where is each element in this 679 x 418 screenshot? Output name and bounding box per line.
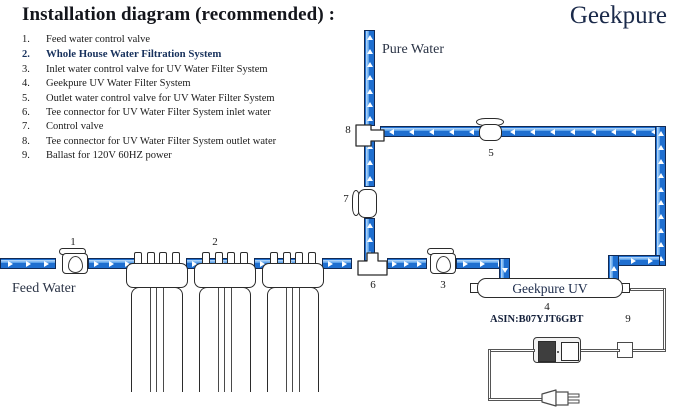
legend-label: Inlet water control valve for UV Water F…: [46, 64, 268, 75]
wire-to-connector: [630, 349, 666, 352]
legend-number: 2.: [22, 49, 46, 60]
asin-label: ASIN:B07YJT6GBT: [490, 314, 583, 325]
flow-arrows-up: [609, 256, 618, 280]
flow-arrows-right: [388, 259, 426, 268]
flow-arrows-left: [381, 127, 664, 136]
power-plug-icon: [540, 388, 582, 415]
filter-collar: [194, 263, 256, 288]
legend-item-7: 7. Control valve: [22, 121, 342, 132]
pipe-feed-inlet: [0, 258, 56, 269]
callout-8: 8: [340, 124, 356, 136]
ballast-light-panel: [561, 342, 579, 361]
brand-logo: Geekpure: [570, 2, 667, 30]
pipe-tee6-to-valve3: [387, 258, 427, 269]
valve-5-body: [479, 124, 502, 141]
callout-7: 7: [338, 193, 354, 205]
filter-body: [199, 287, 251, 392]
filter-collar: [262, 263, 324, 288]
valve-7-body: [358, 189, 377, 218]
flow-arrows-right: [323, 259, 351, 268]
legend-item-4: 4. Geekpure UV Water Filter System: [22, 78, 342, 89]
flow-arrows-up: [656, 127, 665, 265]
wire-connector-to-ballast: [580, 349, 620, 352]
legend-label: Control valve: [46, 121, 103, 132]
valve-1-ball: [68, 256, 83, 273]
valve-3-ball: [436, 256, 451, 273]
page-title: Installation diagram (recommended) :: [22, 4, 335, 26]
legend-number: 8.: [22, 136, 46, 147]
filter-body: [131, 287, 183, 392]
legend-number: 1.: [22, 34, 46, 45]
tee-connector-8: [354, 120, 386, 150]
ballast-dark-panel: [538, 341, 556, 362]
pipe-uv-outlet-top: [380, 126, 665, 137]
callout-3: 3: [432, 279, 454, 291]
legend-item-5: 5. Outlet water control valve for UV Wat…: [22, 93, 342, 104]
legend-item-2: 2. Whole House Water Filtration System: [22, 48, 342, 60]
legend-item-8: 8. Tee connector for UV Water Filter Sys…: [22, 136, 342, 147]
legend-item-6: 6. Tee connector for UV Water Filter Sys…: [22, 107, 342, 118]
pipe-right-riser: [655, 126, 666, 266]
flow-arrows-up: [365, 31, 374, 125]
pipe-filter3-to-tee6: [322, 258, 352, 269]
legend-label: Feed water control valve: [46, 34, 150, 45]
uv-filter-unit: Geekpure UV: [470, 278, 630, 298]
wire-uv-to-corner: [630, 288, 666, 291]
callout-1: 1: [62, 236, 84, 248]
filter-housing-1: [126, 252, 188, 392]
installation-diagram-page: Installation diagram (recommended) : Gee…: [0, 0, 679, 418]
legend-label: Tee connector for UV Water Filter System…: [46, 107, 271, 118]
legend-label: Whole House Water Filtration System: [46, 48, 221, 60]
ballast-indicator-dot: [557, 351, 559, 353]
filter-collar: [126, 263, 188, 288]
callout-2: 2: [204, 236, 226, 248]
callout-5: 5: [480, 147, 502, 159]
legend-number: 7.: [22, 121, 46, 132]
legend-number: 6.: [22, 107, 46, 118]
wire-loop-down: [488, 349, 491, 401]
wire-corner-down: [663, 288, 666, 351]
filter-body: [267, 287, 319, 392]
legend-number: 3.: [22, 64, 46, 75]
tee-connector-6: [356, 252, 389, 278]
legend-item-3: 3. Inlet water control valve for UV Wate…: [22, 64, 342, 75]
legend-number: 5.: [22, 93, 46, 104]
legend-item-1: 1. Feed water control valve: [22, 34, 342, 45]
uv-body: Geekpure UV: [477, 278, 623, 298]
flow-arrows-right: [1, 259, 55, 268]
legend-label: Outlet water control valve for UV Water …: [46, 93, 275, 104]
callout-9: 9: [620, 313, 636, 325]
filter-housing-2: [194, 252, 256, 392]
legend-list: 1. Feed water control valve 2. Whole Hou…: [22, 34, 342, 165]
uv-unit-label: Geekpure UV: [478, 282, 622, 296]
wire-loop-to-plug: [488, 398, 544, 401]
pure-water-label: Pure Water: [382, 42, 444, 58]
legend-label: Tee connector for UV Water Filter System…: [46, 136, 276, 147]
ballast-unit: [533, 337, 581, 363]
legend-item-9: 9. Ballast for 120V 60HZ power: [22, 150, 342, 161]
filter-housing-3: [262, 252, 324, 392]
pipe-pure-water-riser: [364, 30, 375, 126]
legend-number: 4.: [22, 78, 46, 89]
legend-number: 9.: [22, 150, 46, 161]
wire-ballast-to-loop: [488, 349, 535, 352]
callout-4: 4: [536, 301, 558, 313]
feed-water-label: Feed Water: [12, 281, 76, 297]
legend-label: Geekpure UV Water Filter System: [46, 78, 191, 89]
callout-6: 6: [362, 279, 384, 291]
legend-label: Ballast for 120V 60HZ power: [46, 150, 172, 161]
